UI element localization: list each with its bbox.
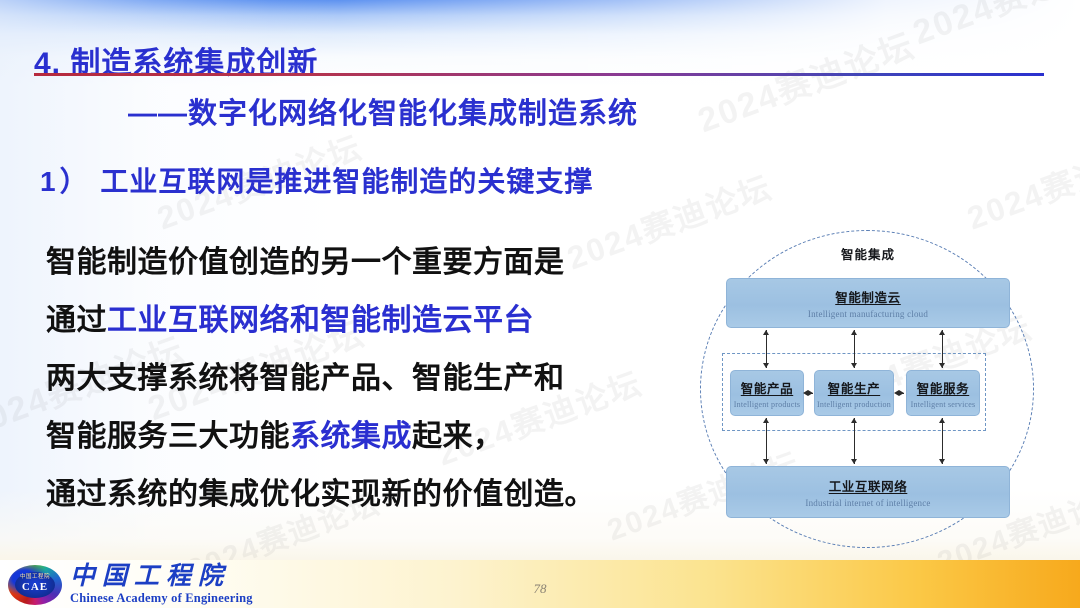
diagram-title: 智能集成 — [694, 244, 1042, 263]
diagram-box-intelligent-services: 智能服务 Intelligent services — [906, 370, 980, 416]
arrowhead-icon — [763, 363, 769, 368]
body-text-run: 通过 — [46, 304, 107, 337]
diagram-box-intelligent-production: 智能生产 Intelligent production — [814, 370, 894, 416]
box-label-en: Industrial internet of intelligence — [805, 498, 930, 508]
box-label-cn: 智能生产 — [828, 378, 880, 397]
box-label-cn: 智能制造云 — [835, 287, 901, 306]
slide-canvas: 2024赛迪论坛2024赛迪论坛2024赛迪论坛2024赛迪论坛2024赛迪论坛… — [0, 0, 1080, 608]
arrowhead-icon — [899, 390, 904, 396]
box-label-en: Intelligent products — [734, 400, 800, 409]
diagram-box-intelligent-manufacturing-cloud: 智能制造云 Intelligent manufacturing cloud — [726, 278, 1010, 328]
cae-logo-label-cn: 中国工程院 — [8, 572, 62, 580]
box-label-cn: 智能服务 — [917, 378, 969, 397]
section-number: 1） — [40, 166, 92, 197]
box-label-cn: 智能产品 — [741, 378, 793, 397]
body-text-run: 两大支撑系统将智能产品、智能生产和 — [46, 362, 565, 395]
body-paragraph: 智能制造价值创造的另一个重要方面是通过工业互联网络和智能制造云平台两大支撑系统将… — [46, 234, 706, 524]
body-line: 智能制造价值创造的另一个重要方面是 — [46, 234, 706, 292]
diagram-box-intelligent-products: 智能产品 Intelligent products — [730, 370, 804, 416]
page-number: 78 — [0, 581, 1080, 597]
arrowhead-icon — [851, 363, 857, 368]
connector-products-network — [766, 418, 767, 464]
arrowhead-icon — [939, 418, 945, 423]
body-line: 两大支撑系统将智能产品、智能生产和 — [46, 350, 706, 408]
arrowhead-icon — [939, 330, 945, 335]
arrowhead-icon — [851, 418, 857, 423]
body-text-run: 起来， — [412, 420, 504, 453]
body-line: 通过系统的集成优化实现新的价值创造。 — [46, 466, 706, 524]
box-label-en: Intelligent services — [911, 400, 976, 409]
body-text-emphasis: 系统集成 — [290, 420, 412, 453]
page-subtitle: ——数字化网络化智能化集成制造系统 — [128, 90, 638, 132]
arrowhead-icon — [851, 330, 857, 335]
diagram-box-industrial-internet: 工业互联网络 Industrial internet of intelligen… — [726, 466, 1010, 518]
body-line: 智能服务三大功能系统集成起来， — [46, 408, 706, 466]
body-text-run: 通过系统的集成优化实现新的价值创造。 — [46, 478, 595, 511]
section-heading: 1） 工业互联网是推进智能制造的关键支撑 — [40, 160, 593, 200]
arrowhead-icon — [763, 330, 769, 335]
arrowhead-icon — [763, 418, 769, 423]
arrowhead-icon — [763, 459, 769, 464]
body-text-emphasis: 工业互联网络和智能制造云平台 — [107, 304, 534, 337]
body-text-run: 智能服务三大功能 — [46, 420, 290, 453]
box-label-en: Intelligent manufacturing cloud — [808, 309, 928, 319]
box-label-cn: 工业互联网络 — [829, 476, 908, 495]
arrowhead-icon — [851, 459, 857, 464]
body-text-run: 智能制造价值创造的另一个重要方面是 — [46, 246, 565, 279]
arrowhead-icon — [808, 390, 813, 396]
box-label-en: Intelligent production — [817, 400, 891, 409]
intelligent-integration-diagram: 智能集成 智能制造云 Intelligent manufacturing clo… — [694, 218, 1042, 550]
connector-services-network — [942, 418, 943, 464]
body-line: 通过工业互联网络和智能制造云平台 — [46, 292, 706, 350]
arrowhead-icon — [939, 363, 945, 368]
arrowhead-icon — [939, 459, 945, 464]
section-heading-label: 工业互联网是推进智能制造的关键支撑 — [100, 166, 593, 197]
connector-production-network — [854, 418, 855, 464]
title-divider — [34, 73, 1044, 76]
